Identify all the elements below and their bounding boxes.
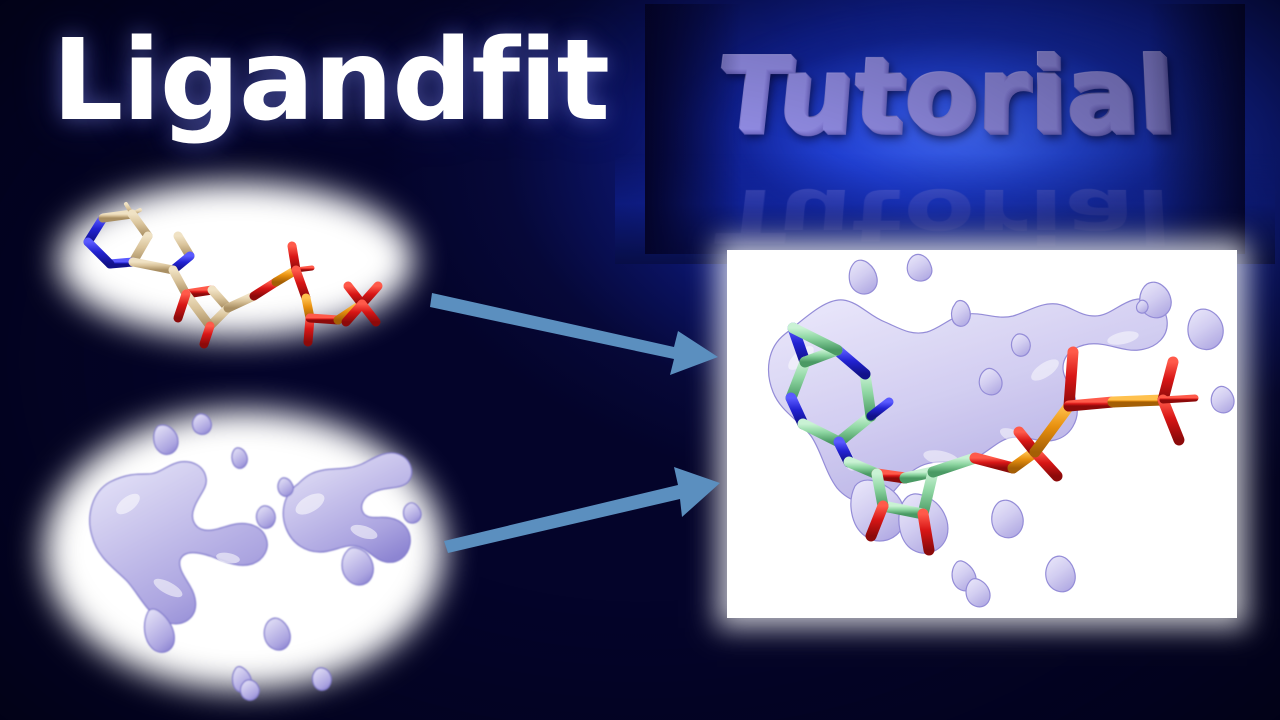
ligand-model-graphic (70, 190, 410, 340)
density-map-graphic (48, 412, 448, 692)
arrow-ligand-to-result (430, 285, 720, 385)
page-title: Ligandfit (52, 22, 609, 141)
slide-stage: Tutorial Tutorial Ligandfit (0, 0, 1280, 720)
arrow-density-to-result (442, 455, 722, 555)
fitted-result-graphic (727, 250, 1237, 618)
